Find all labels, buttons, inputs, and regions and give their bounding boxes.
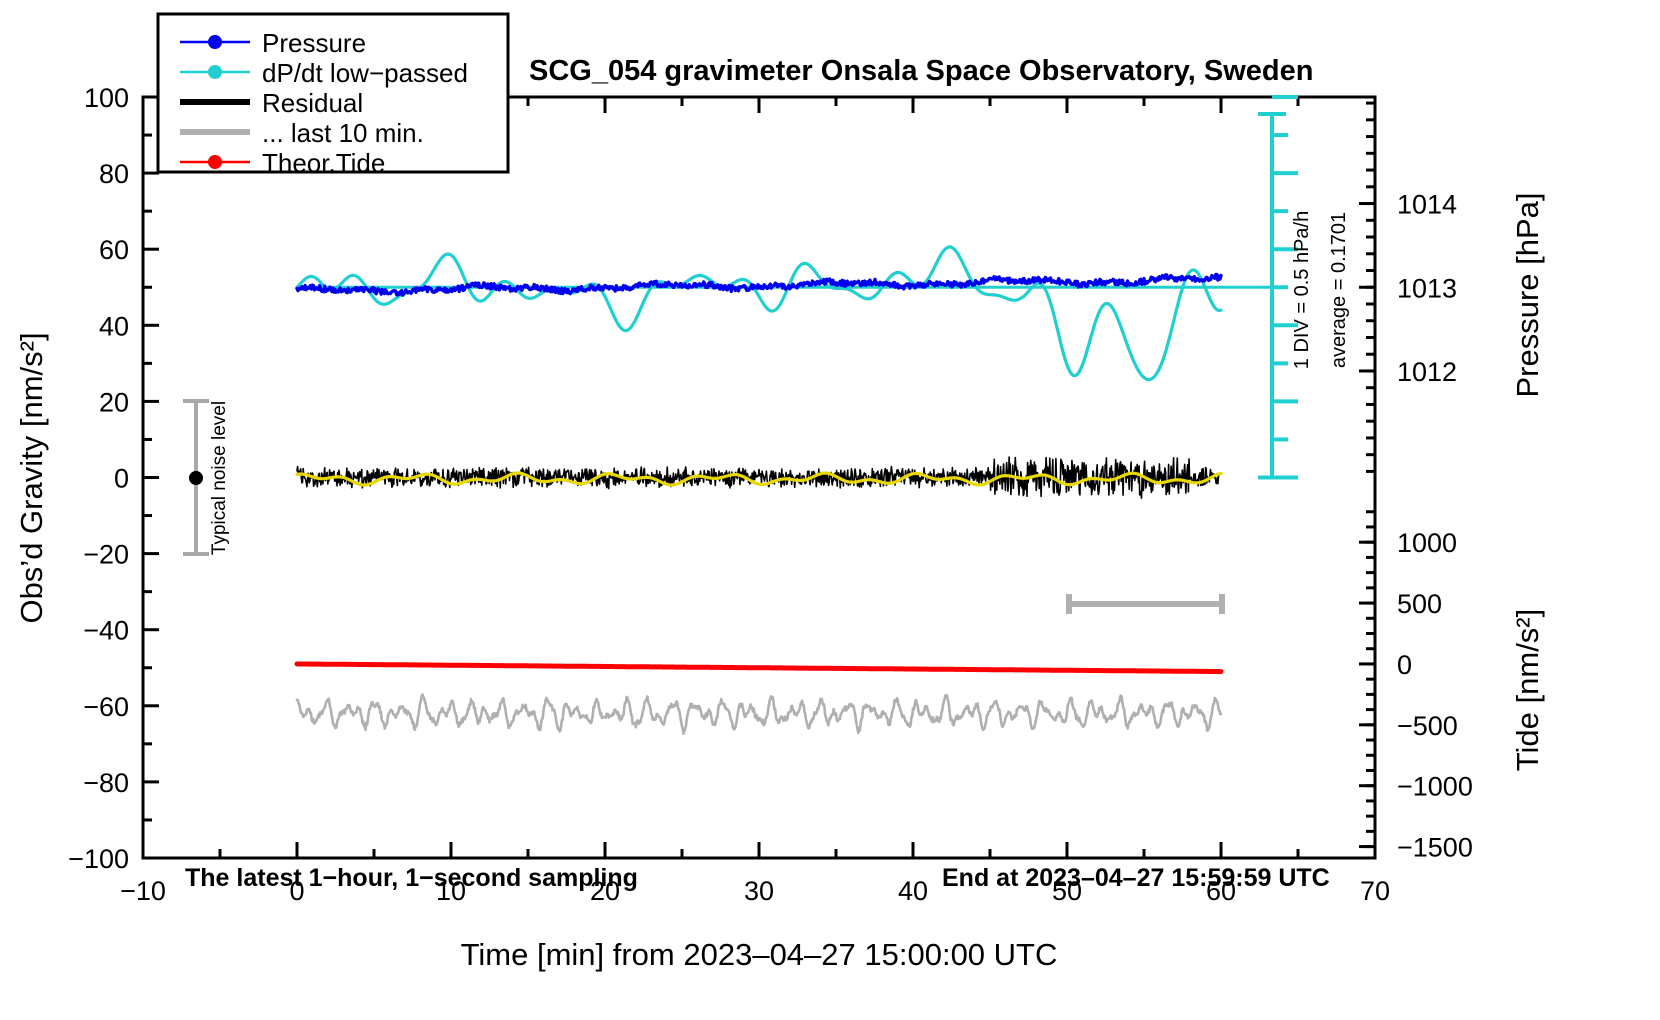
- legend-label: dP/dt low−passed: [262, 58, 468, 88]
- x-tick-label: 30: [744, 876, 774, 906]
- x-axis-title: Time [min] from 2023–04–27 15:00:00 UTC: [461, 937, 1058, 972]
- footer-note-right: End at 2023–04–27 15:59:59 UTC: [942, 864, 1330, 892]
- footer-note-left: The latest 1−hour, 1−second sampling: [185, 864, 638, 892]
- typical-noise-level-label: Typical noise level: [209, 401, 230, 555]
- y-tick-label: 80: [99, 159, 129, 189]
- y-tick-label: 20: [99, 387, 129, 417]
- y-tick-label: −100: [68, 844, 129, 874]
- gravimeter-plot: SCG_054 gravimeter Onsala Space Observat…: [0, 0, 1660, 1020]
- series-pressure: [297, 275, 1221, 296]
- legend: PressuredP/dt low−passedResidual... last…: [158, 14, 508, 178]
- y-axis-tide-title: Tide [nm/s²]: [1510, 609, 1545, 772]
- tide-tick-label: 0: [1397, 650, 1412, 680]
- chart-title: SCG_054 gravimeter Onsala Space Observat…: [529, 55, 1313, 87]
- y-tick-label: 100: [84, 83, 129, 113]
- dpdt-div-label: 1 DIV = 0.5 hPa/h: [1291, 211, 1313, 369]
- legend-marker: [208, 65, 222, 79]
- tide-tick-label: 500: [1397, 589, 1442, 619]
- tide-tick-label: −1500: [1397, 833, 1473, 863]
- x-tick-label: 40: [898, 876, 928, 906]
- legend-label: Residual: [262, 88, 363, 118]
- dpdt-average-label: average = 0.1701: [1328, 212, 1350, 368]
- y-tick-label: 40: [99, 311, 129, 341]
- x-tick-label: −10: [120, 876, 166, 906]
- series-dpdt-lowpassed: [297, 247, 1221, 380]
- y-axis-pressure-title: Pressure [hPa]: [1510, 192, 1545, 397]
- legend-label: ... last 10 min.: [262, 118, 424, 148]
- series-last-10-min: [297, 695, 1221, 734]
- y-tick-label: −80: [83, 768, 129, 798]
- pressure-tick-label: 1013: [1397, 273, 1457, 303]
- y-axis-left: −100−80−60−40−20020406080100: [68, 83, 159, 874]
- y-tick-label: −60: [83, 692, 129, 722]
- legend-marker: [208, 35, 222, 49]
- typical-noise-level-marker: [183, 401, 209, 554]
- y-tick-label: 60: [99, 235, 129, 265]
- tide-tick-label: −1000: [1397, 772, 1473, 802]
- legend-label: Theor.Tide: [262, 148, 385, 178]
- y-tick-label: 0: [114, 464, 129, 494]
- x-tick-label: 70: [1360, 876, 1390, 906]
- chart-page: SCG_054 gravimeter Onsala Space Observat…: [0, 0, 1660, 1020]
- series-theor-tide: [297, 664, 1221, 672]
- tide-tick-label: 1000: [1397, 528, 1457, 558]
- tide-tick-label: −500: [1397, 711, 1458, 741]
- y-tick-label: −20: [83, 540, 129, 570]
- legend-label: Pressure: [262, 28, 366, 58]
- pressure-tick-label: 1012: [1397, 357, 1457, 387]
- y-axis-left-title: Obs’d Gravity [nm/s²]: [14, 332, 49, 623]
- x-axis: −10010203040506070: [120, 97, 1390, 906]
- last-10-min-scale-bar: [1069, 594, 1222, 614]
- legend-marker: [208, 155, 222, 169]
- y-tick-label: −40: [83, 616, 129, 646]
- data-series-layer: [297, 247, 1272, 734]
- pressure-tick-label: 1014: [1397, 190, 1457, 220]
